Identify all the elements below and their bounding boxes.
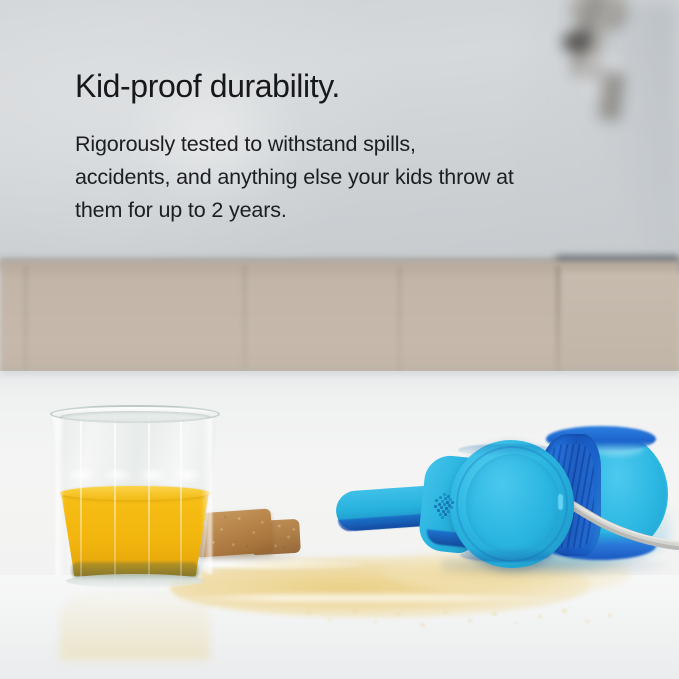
spill-edge-highlight: [176, 594, 576, 602]
page-subtitle: Rigorously tested to withstand spills, a…: [75, 106, 515, 228]
glass-rim-inner: [60, 411, 210, 423]
cabinet-right-panel: [560, 272, 679, 376]
glass-highlight-right: [202, 418, 212, 574]
glass-facet: [80, 410, 82, 582]
countertop-back-edge: [0, 369, 679, 377]
glass-highlight-left: [56, 418, 64, 576]
glass-facet: [180, 410, 182, 582]
glass-facet: [148, 410, 150, 582]
earcup-seam-bottom: [460, 548, 552, 562]
cabinet-seam: [556, 266, 560, 376]
glass-facet: [114, 410, 116, 582]
earcup-indicator-slit: [558, 494, 563, 510]
glass-base: [66, 574, 204, 588]
page-title: Kid-proof durability.: [75, 68, 595, 106]
kids-headphones: [330, 420, 660, 590]
faucet-shaft: [597, 71, 625, 121]
belkin-dot-logo-icon: [432, 492, 458, 518]
earcup-seam-top: [458, 444, 554, 456]
cabinet-seam: [398, 266, 401, 376]
glass-reflection: [60, 588, 210, 660]
earcup-plate: [466, 454, 560, 554]
juice-droplets: [300, 606, 630, 632]
juice-surface: [60, 486, 210, 500]
cabinet-seam: [243, 266, 246, 376]
cabinet-seam: [24, 266, 27, 376]
marketing-copy: Kid-proof durability. Rigorously tested …: [75, 68, 595, 228]
product-lifestyle-scene: Kid-proof durability. Rigorously tested …: [0, 0, 679, 679]
juice-glass: [52, 410, 218, 590]
glass-texture-bumps: [62, 462, 208, 488]
